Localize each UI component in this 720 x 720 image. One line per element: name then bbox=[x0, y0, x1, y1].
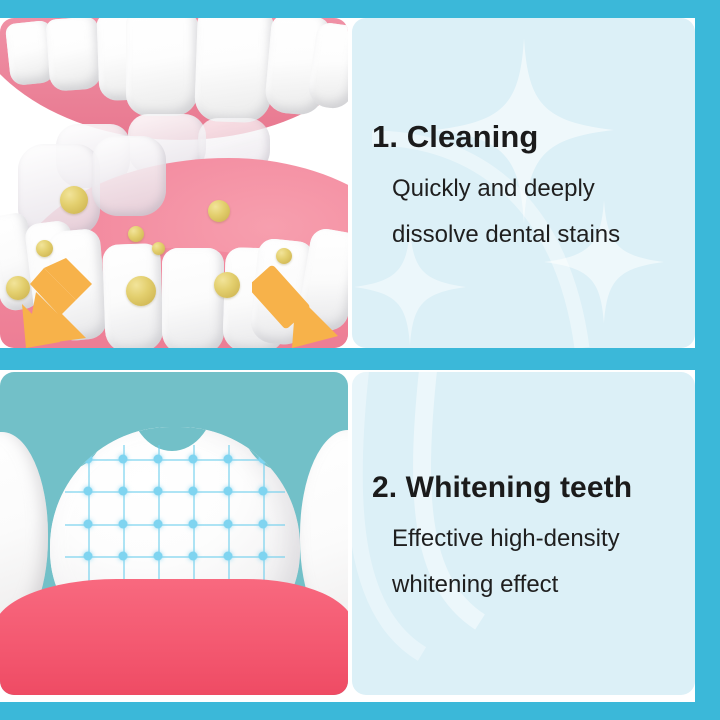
tooth-illustration bbox=[0, 372, 348, 695]
frame-border-top bbox=[0, 0, 720, 18]
stain-particle bbox=[214, 272, 240, 298]
frame-border-right bbox=[695, 0, 720, 720]
step-1-headline: 1. Cleaning bbox=[372, 119, 695, 155]
stain-particle bbox=[128, 226, 144, 242]
step-2-image-card bbox=[0, 372, 348, 695]
lower-tooth bbox=[162, 248, 224, 348]
frame-border-bottom bbox=[0, 702, 720, 720]
step-2-text-card: 2. Whitening teeth Effective high-densit… bbox=[352, 372, 695, 695]
step-1-body-line-1: Quickly and deeply bbox=[392, 177, 695, 201]
step-2-body-line-2: whitening effect bbox=[392, 573, 695, 597]
step-1-row: 1. Cleaning Quickly and deeply dissolve … bbox=[0, 18, 695, 348]
stain-particle bbox=[126, 276, 156, 306]
cleaning-arrow-left bbox=[14, 254, 100, 348]
step-2-row: 2. Whitening teeth Effective high-densit… bbox=[0, 372, 695, 695]
stain-particle bbox=[60, 186, 88, 214]
stain-particle bbox=[152, 242, 165, 255]
frame-divider-middle bbox=[0, 348, 695, 370]
mouth-illustration bbox=[0, 18, 348, 348]
step-1-body-line-2: dissolve dental stains bbox=[392, 223, 695, 247]
step-1-text-card: 1. Cleaning Quickly and deeply dissolve … bbox=[352, 18, 695, 348]
step-2-body-line-1: Effective high-density bbox=[392, 527, 695, 551]
cleaning-arrow-right bbox=[252, 260, 342, 348]
upper-tooth bbox=[126, 18, 198, 116]
stain-particle bbox=[208, 200, 230, 222]
step-2-headline: 2. Whitening teeth bbox=[372, 471, 695, 505]
gum-line bbox=[0, 579, 348, 695]
product-feature-graphic: 1. Cleaning Quickly and deeply dissolve … bbox=[0, 0, 720, 720]
upper-tooth bbox=[194, 18, 274, 123]
lower-molar bbox=[92, 136, 166, 216]
upper-tooth bbox=[46, 18, 103, 92]
step-1-image-card bbox=[0, 18, 348, 348]
